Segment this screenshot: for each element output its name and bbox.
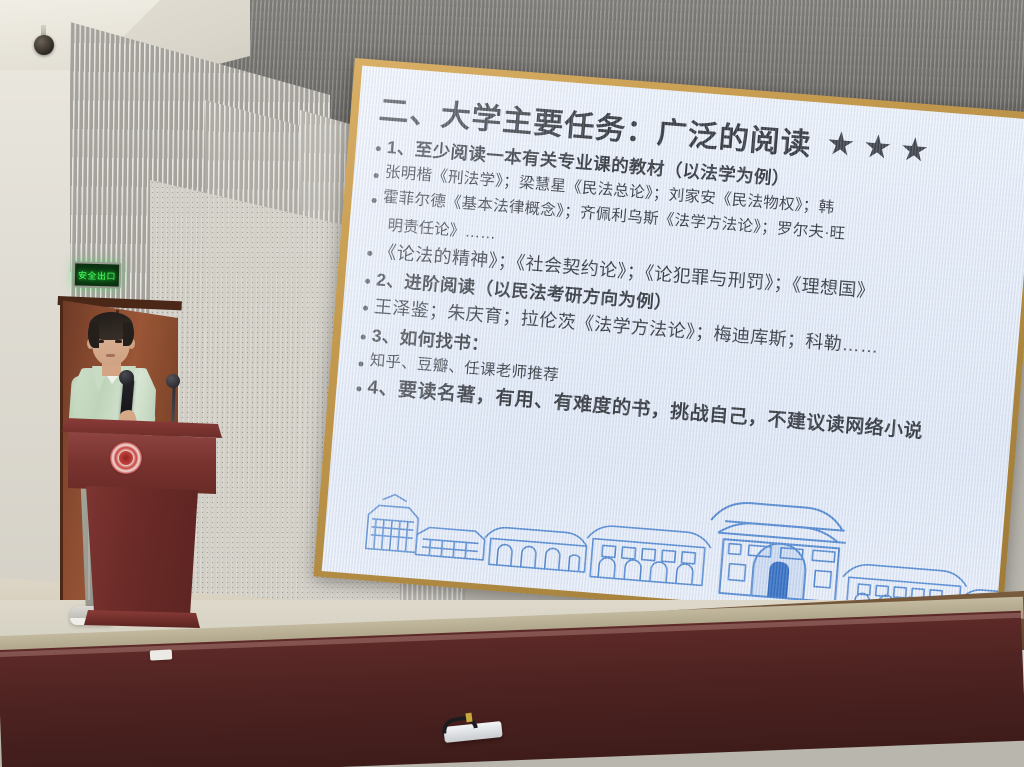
star-icon xyxy=(864,133,892,161)
university-emblem xyxy=(110,442,142,474)
bullet-dot-icon xyxy=(358,361,363,366)
podium-base xyxy=(84,610,200,628)
bullet-dot-icon xyxy=(371,198,376,203)
bullet-dot-icon xyxy=(373,173,378,178)
bullet-dot-icon xyxy=(356,386,361,391)
floor-item-small xyxy=(150,649,172,660)
speaker-mouth xyxy=(106,354,115,357)
exit-sign-label: 安全出口 xyxy=(78,268,116,282)
star-icon xyxy=(900,136,928,164)
bullet-dot-icon xyxy=(365,279,370,284)
bullet-dot-icon xyxy=(376,146,381,151)
gate-figure xyxy=(767,561,790,598)
bullet-dot-icon xyxy=(360,334,365,339)
camera-dome xyxy=(34,35,54,55)
gooseneck-microphone-icon xyxy=(166,374,180,388)
campus-buildings-illustration xyxy=(322,449,1005,621)
speaker-eye-left xyxy=(97,340,104,343)
auditorium-scene: 安全出口 二、大学主要任务：广泛的阅读 1、至少阅读一本有关专业课的教 xyxy=(0,0,1024,767)
emblem-center xyxy=(119,451,133,465)
exit-sign: 安全出口 xyxy=(73,261,122,288)
led-screen[interactable]: 二、大学主要任务：广泛的阅读 1、至少阅读一本有关专业课的教材（以法学为例） xyxy=(322,66,1024,626)
lectern-podium xyxy=(62,418,222,630)
bullet-text: 3、如何找书： xyxy=(371,324,490,356)
title-stars xyxy=(827,130,929,164)
speaker-eye-right xyxy=(115,340,122,343)
bullet-dot-icon xyxy=(363,306,368,311)
podium-column xyxy=(86,486,198,616)
slide-bullet-list: 1、至少阅读一本有关专业课的教材（以法学为例） 张明楷《刑法学》；梁慧星《民法总… xyxy=(354,135,1021,451)
floor-item-tip xyxy=(465,713,472,723)
presentation-slide: 二、大学主要任务：广泛的阅读 1、至少阅读一本有关专业课的教材（以法学为例） xyxy=(322,66,1024,626)
bullet-dot-icon xyxy=(367,251,372,256)
security-camera-icon xyxy=(34,35,60,61)
podium-front-face xyxy=(68,432,216,494)
star-icon xyxy=(827,130,855,158)
speaker-hair-side-left xyxy=(88,322,99,348)
